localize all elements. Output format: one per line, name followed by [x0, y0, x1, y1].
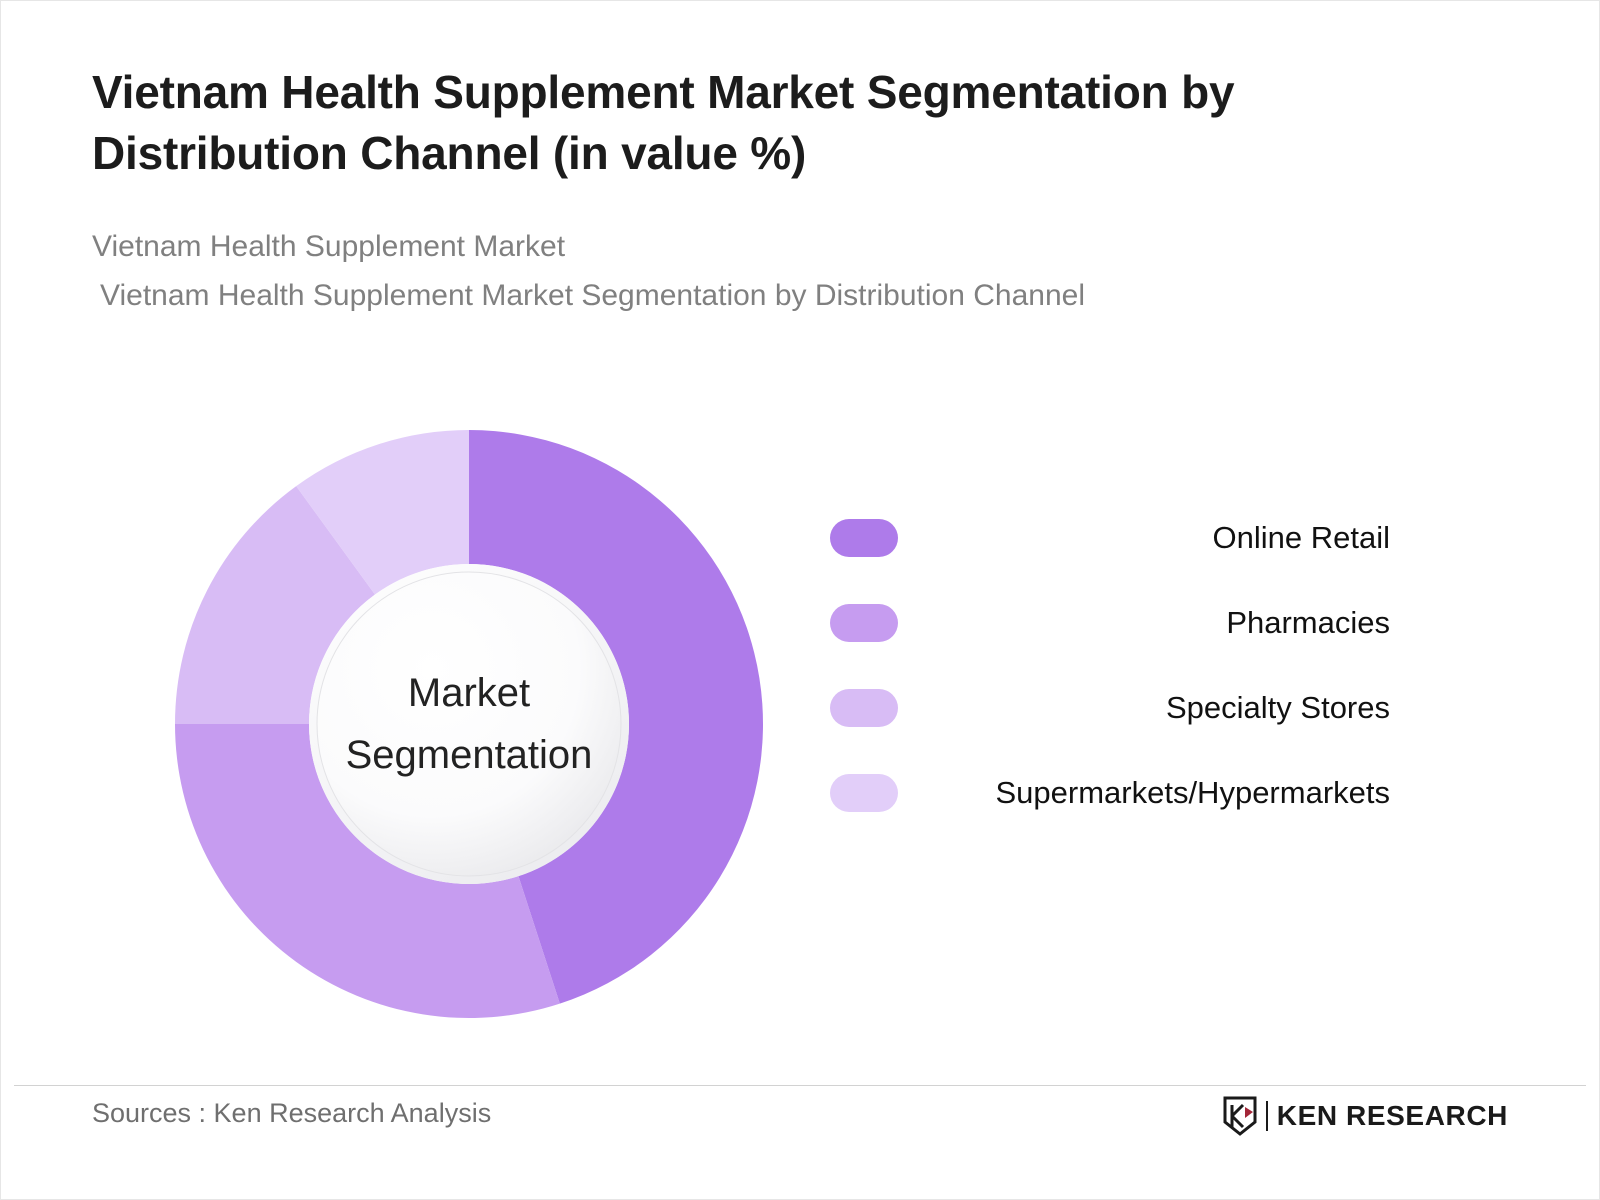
subtitle-line-2: Vietnam Health Supplement Market Segment…	[92, 272, 1432, 321]
legend-swatch-icon	[830, 689, 898, 727]
subtitle-line-1: Vietnam Health Supplement Market	[92, 223, 1432, 272]
donut-hub	[317, 572, 621, 876]
legend-label: Pharmacies	[898, 605, 1390, 641]
legend-label: Specialty Stores	[898, 690, 1390, 726]
header: Vietnam Health Supplement Market Segment…	[92, 62, 1432, 321]
logo-wordmark: KEN RESEARCH	[1277, 1100, 1508, 1132]
chart-legend: Online Retail Pharmacies Specialty Store…	[830, 495, 1390, 835]
chart-page: Vietnam Health Supplement Market Segment…	[0, 0, 1600, 1200]
legend-item-online-retail[interactable]: Online Retail	[830, 495, 1390, 580]
chart-area: Market Segmentation Online Retail Pharma…	[0, 400, 1600, 1060]
ken-research-shield-icon	[1223, 1096, 1257, 1136]
legend-swatch-icon	[830, 604, 898, 642]
page-title: Vietnam Health Supplement Market Segment…	[92, 62, 1402, 183]
legend-swatch-icon	[830, 519, 898, 557]
legend-item-specialty-stores[interactable]: Specialty Stores	[830, 665, 1390, 750]
legend-swatch-icon	[830, 774, 898, 812]
donut-svg	[175, 430, 763, 1018]
chart-subtitle: Vietnam Health Supplement Market Vietnam…	[92, 223, 1432, 320]
legend-item-pharmacies[interactable]: Pharmacies	[830, 580, 1390, 665]
source-note: Sources : Ken Research Analysis	[92, 1098, 491, 1129]
legend-label: Supermarkets/Hypermarkets	[898, 775, 1390, 811]
ken-research-logo: KEN RESEARCH	[1223, 1096, 1508, 1136]
donut-chart: Market Segmentation	[175, 430, 763, 1018]
logo-divider-icon	[1266, 1101, 1268, 1131]
footer-divider	[14, 1085, 1586, 1086]
legend-label: Online Retail	[898, 520, 1390, 556]
legend-item-supermarkets-hypermarkets[interactable]: Supermarkets/Hypermarkets	[830, 750, 1390, 835]
